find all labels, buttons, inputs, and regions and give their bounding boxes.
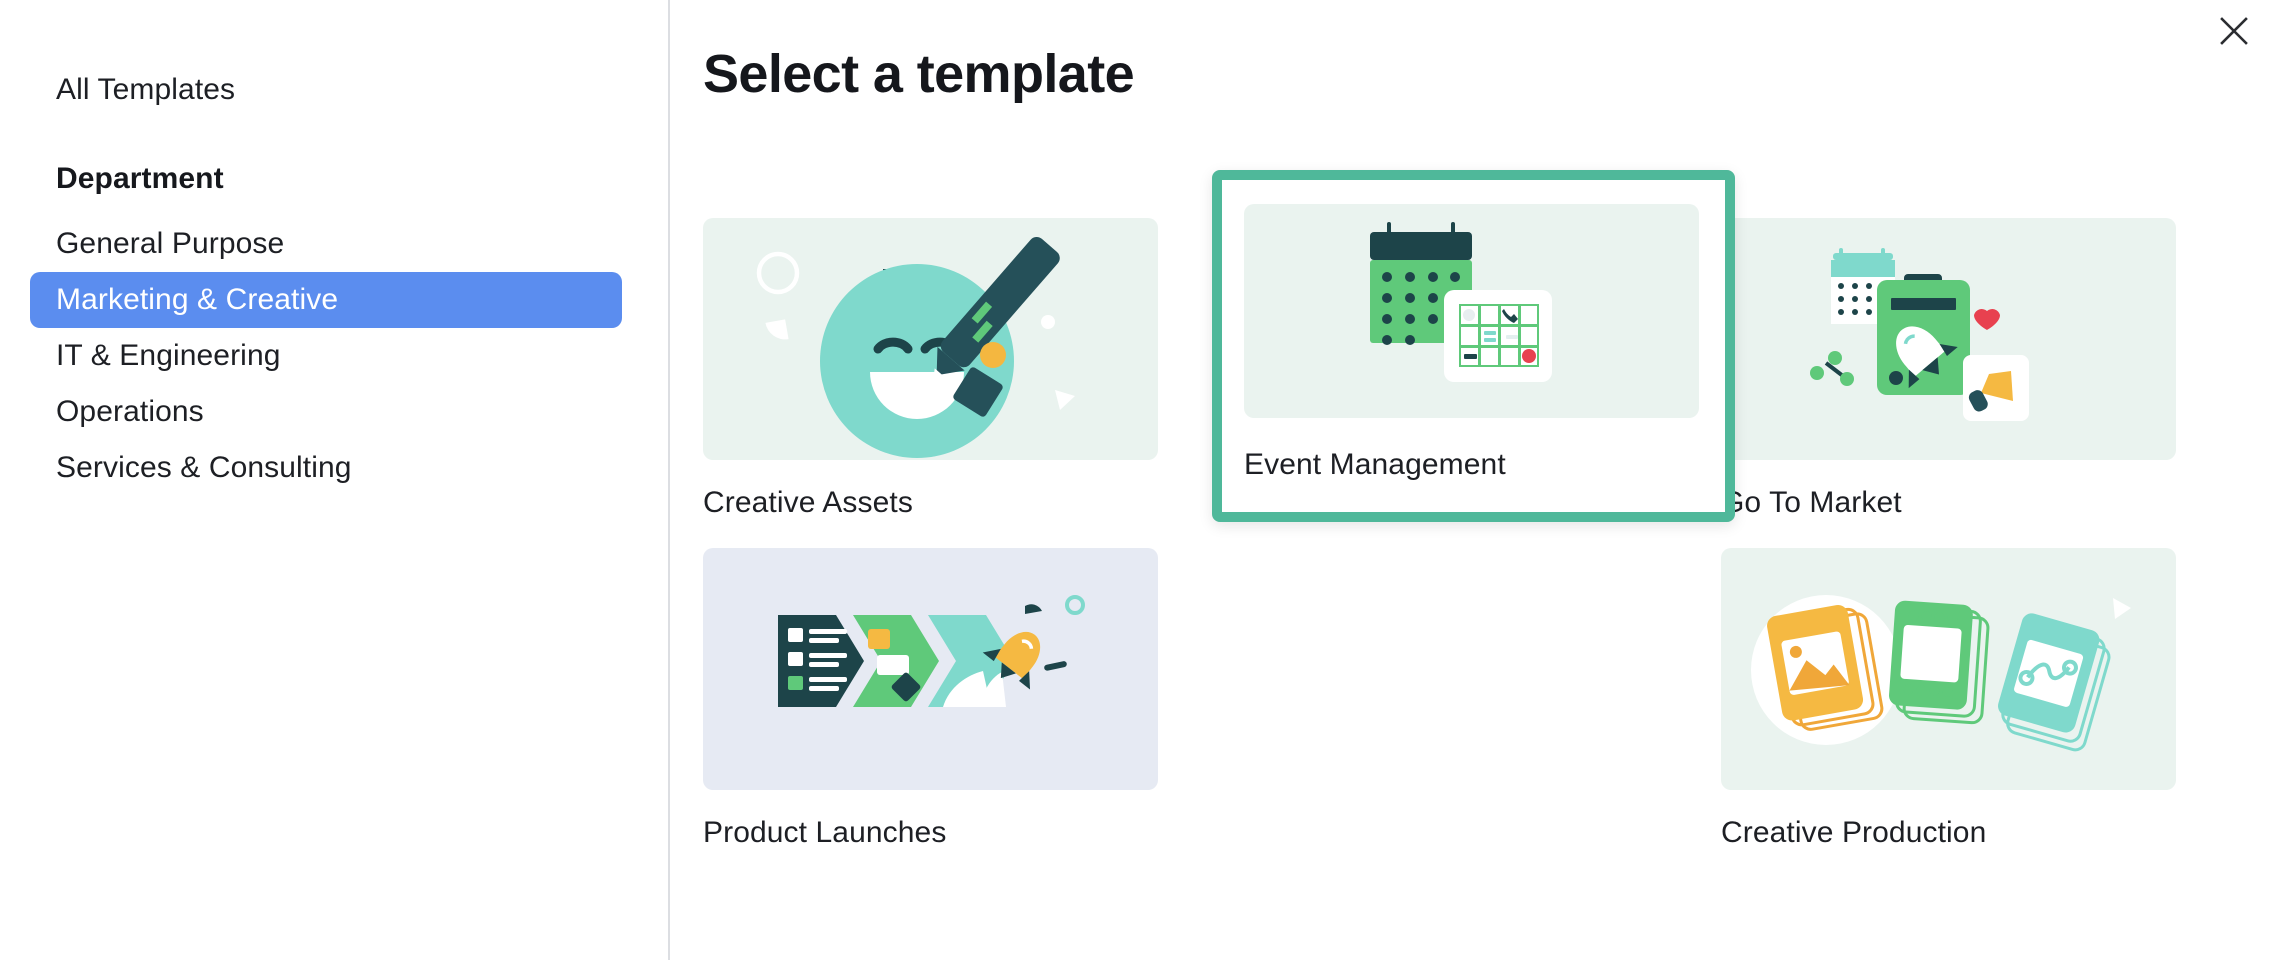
template-card-go-to-market[interactable]: Go To Market bbox=[1721, 218, 2176, 520]
sidebar-item-it-engineering[interactable]: IT & Engineering bbox=[30, 328, 622, 384]
sidebar-item-general-purpose[interactable]: General Purpose bbox=[30, 216, 622, 272]
sidebar-department-list: General Purpose Marketing & Creative IT … bbox=[0, 216, 668, 496]
sidebar-item-label: IT & Engineering bbox=[56, 339, 281, 373]
sidebar-item-all-templates[interactable]: All Templates bbox=[30, 62, 622, 118]
smiley-pen-icon bbox=[703, 218, 1158, 460]
template-grid: Creative Assets bbox=[703, 218, 2210, 850]
sidebar-item-services-consulting[interactable]: Services & Consulting bbox=[30, 440, 622, 496]
chevrons-rocket-icon bbox=[703, 548, 1158, 790]
template-card-label: Creative Production bbox=[1721, 816, 2176, 850]
template-card-label: Event Management bbox=[1244, 448, 1703, 482]
clipboard-rocket-icon bbox=[1721, 218, 2176, 460]
calendar-keypad-icon bbox=[1244, 204, 1699, 418]
template-card-event-management[interactable]: Event Management bbox=[1212, 170, 1735, 522]
template-card-label: Go To Market bbox=[1721, 486, 2176, 520]
sidebar-item-label: All Templates bbox=[56, 73, 235, 107]
template-thumbnail bbox=[703, 548, 1158, 790]
card-stacks-icon bbox=[1721, 548, 2176, 790]
template-card-label: Product Launches bbox=[703, 816, 1158, 850]
close-icon[interactable] bbox=[2206, 3, 2262, 59]
sidebar-item-label: General Purpose bbox=[56, 227, 284, 261]
sidebar-item-label: Marketing & Creative bbox=[56, 283, 338, 317]
template-card-creative-assets[interactable]: Creative Assets bbox=[703, 218, 1158, 520]
sidebar-section-department: Department bbox=[30, 162, 622, 196]
template-thumbnail bbox=[1244, 204, 1699, 418]
template-thumbnail bbox=[1721, 548, 2176, 790]
sidebar-item-operations[interactable]: Operations bbox=[30, 384, 622, 440]
sidebar: All Templates Department General Purpose… bbox=[0, 0, 670, 960]
template-card-creative-production[interactable]: Creative Production bbox=[1721, 548, 2176, 850]
page-title: Select a template bbox=[703, 43, 2225, 105]
sidebar-item-label: Operations bbox=[56, 395, 204, 429]
main-panel: Select a template bbox=[670, 0, 2270, 960]
template-thumbnail bbox=[1721, 218, 2176, 460]
sidebar-item-label: Services & Consulting bbox=[56, 451, 352, 485]
template-card-label: Creative Assets bbox=[703, 486, 1158, 520]
sidebar-item-marketing-creative[interactable]: Marketing & Creative bbox=[30, 272, 622, 328]
template-picker-dialog: All Templates Department General Purpose… bbox=[0, 0, 2270, 960]
template-card-product-launches[interactable]: Product Launches bbox=[703, 548, 1158, 850]
template-thumbnail bbox=[703, 218, 1158, 460]
